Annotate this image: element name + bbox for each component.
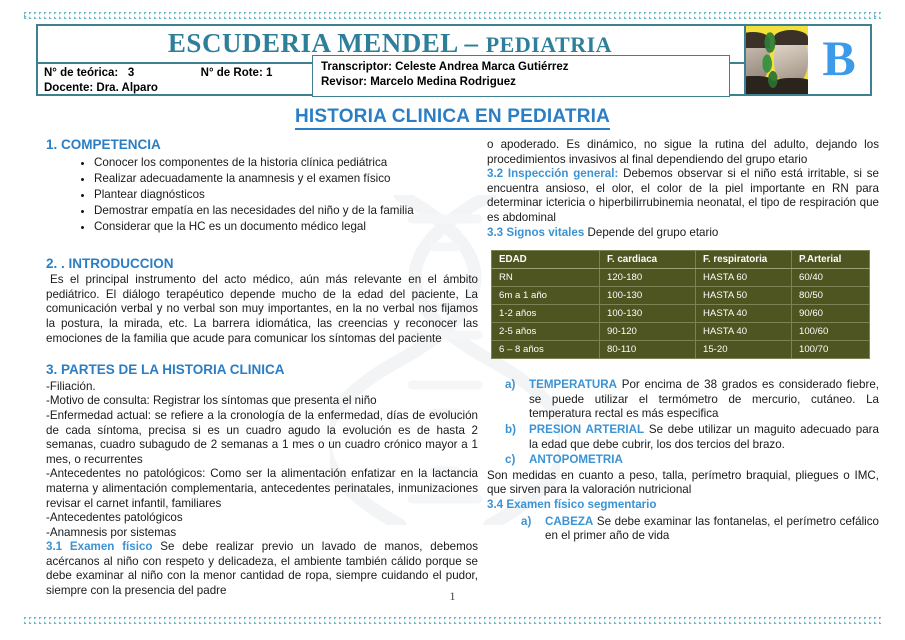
cell-parterial: 90/60 xyxy=(792,305,870,323)
partes-antecedentes-patologicos: -Antecedentes patológicos xyxy=(46,511,478,526)
document-header: ESCUDERIA MENDEL – PEDIATRIA N° de teóri… xyxy=(36,24,872,96)
list-item: Plantear diagnósticos xyxy=(94,187,478,203)
list-item: Conocer los componentes de la historia c… xyxy=(94,155,478,171)
partes-filiacion: -Filiación. xyxy=(46,380,478,395)
left-column: 1. COMPETENCIA Conocer los componentes d… xyxy=(46,138,478,599)
page-title: HISTORIA CLINICA EN PEDIATRIA xyxy=(0,106,905,128)
column-header-fcardiaca: F. cardiaca xyxy=(600,251,696,269)
signos-vitales-text: Depende del grupo etario xyxy=(584,226,718,239)
medidas-list: TEMPERATURA Por encima de 38 grados es c… xyxy=(487,378,879,468)
cabeza-label: CABEZA xyxy=(545,515,593,528)
signos-vitales-label: 3.3 Signos vitales xyxy=(487,226,584,239)
cell-parterial: 100/60 xyxy=(792,323,870,341)
border-top xyxy=(24,12,881,19)
cell-frespiratoria: 15-20 xyxy=(696,341,792,359)
cell-frespiratoria: HASTA 40 xyxy=(696,323,792,341)
cell-edad: 6 – 8 años xyxy=(492,341,600,359)
banner-main-text: ESCUDERIA MENDEL xyxy=(168,28,457,58)
table-row: RN 120-180 HASTA 60 60/40 xyxy=(492,269,870,287)
partes-anamnesis: -Anamnesis por sistemas xyxy=(46,526,478,541)
transcriptor-text: Transcriptor: Celeste Andrea Marca Gutié… xyxy=(321,60,729,75)
metadata-left: N° de teórica: 3 N° de Rote: 1 Docente: … xyxy=(44,66,272,95)
teorica-label: N° de teórica: xyxy=(44,67,118,79)
cell-fcardiaca: 80-110 xyxy=(600,341,696,359)
cell-edad: 1-2 años xyxy=(492,305,600,323)
temperatura-label: TEMPERATURA xyxy=(529,378,617,391)
introduccion-body: Es el principal instrumento del acto méd… xyxy=(46,273,478,346)
inspeccion-paragraph: 3.2 Inspección general: Debemos observar… xyxy=(487,167,879,225)
table-header-row: EDAD F. cardiaca F. respiratoria P.Arter… xyxy=(492,251,870,269)
list-item: Realizar adecuadamente la anamnesis y el… xyxy=(94,171,478,187)
cell-frespiratoria: HASTA 40 xyxy=(696,305,792,323)
section-heading-partes: 3. PARTES DE LA HISTORIA CLINICA xyxy=(46,363,478,378)
inspeccion-label: 3.2 Inspección general: xyxy=(487,167,618,180)
border-left xyxy=(24,12,31,624)
cell-fcardiaca: 100-130 xyxy=(600,305,696,323)
partes-antecedentes-no-patologicos: -Antecedentes no patológicos: Como ser l… xyxy=(46,467,478,511)
cell-frespiratoria: HASTA 60 xyxy=(696,269,792,287)
competencia-list: Conocer los componentes de la historia c… xyxy=(46,155,478,235)
cell-edad: 2-5 años xyxy=(492,323,600,341)
partes-motivo: -Motivo de consulta: Registrar los sínto… xyxy=(46,394,478,409)
page-title-text: HISTORIA CLINICA EN PEDIATRIA xyxy=(295,106,610,130)
antropometria-body: Son medidas en cuanto a peso, talla, per… xyxy=(487,469,879,498)
cell-fcardiaca: 90-120 xyxy=(600,323,696,341)
page-number: 1 xyxy=(0,589,905,604)
column-header-edad: EDAD xyxy=(492,251,600,269)
docente-text: Docente: Dra. Alparo xyxy=(44,82,158,94)
segmentario-label: 3.4 Examen físico segmentario xyxy=(487,498,656,511)
right-column: o apoderado. Es dinámico, no sigue la ru… xyxy=(487,138,879,545)
column-header-frespiratoria: F. respiratoria xyxy=(696,251,792,269)
table-row: 2-5 años 90-120 HASTA 40 100/60 xyxy=(492,323,870,341)
cell-parterial: 60/40 xyxy=(792,269,870,287)
cell-parterial: 80/50 xyxy=(792,287,870,305)
cell-parterial: 100/70 xyxy=(792,341,870,359)
cell-edad: 6m a 1 año xyxy=(492,287,600,305)
table-row: 6m a 1 año 100-130 HASTA 50 80/50 xyxy=(492,287,870,305)
continuation-paragraph: o apoderado. Es dinámico, no sigue la ru… xyxy=(487,138,879,167)
signos-vitales-paragraph: 3.3 Signos vitales Depende del grupo eta… xyxy=(487,226,879,241)
list-item-cabeza: CABEZA Se debe examinar las fontanelas, … xyxy=(545,515,879,544)
vital-signs-table: EDAD F. cardiaca F. respiratoria P.Arter… xyxy=(491,250,870,359)
partes-enfermedad: -Enfermedad actual: se refiere a la cron… xyxy=(46,409,478,467)
teorica-value: 3 xyxy=(128,67,134,79)
cell-frespiratoria: HASTA 50 xyxy=(696,287,792,305)
school-logo: B xyxy=(744,24,872,96)
rote-label: N° de Rote: xyxy=(201,67,263,79)
cabeza-text: Se debe examinar las fontanelas, el perí… xyxy=(545,515,879,543)
cell-fcardiaca: 100-130 xyxy=(600,287,696,305)
examen-fisico-label: 3.1 Examen físico xyxy=(46,540,152,553)
presion-arterial-label: PRESION ARTERIAL xyxy=(529,423,644,436)
list-item: Demostrar empatía en las necesidades del… xyxy=(94,203,478,219)
table-row: 1-2 años 100-130 HASTA 40 90/60 xyxy=(492,305,870,323)
border-bottom xyxy=(24,617,881,624)
list-item-presion-arterial: PRESION ARTERIAL Se debe utilizar un mag… xyxy=(529,423,879,452)
antropometria-label: ANTOPOMETRIA xyxy=(529,453,623,466)
list-item: Considerar que la HC es un documento méd… xyxy=(94,219,478,235)
section-heading-competencia: 1. COMPETENCIA xyxy=(46,138,478,153)
section-heading-introduccion: 2. . INTRODUCCION xyxy=(46,257,478,272)
list-item-temperatura: TEMPERATURA Por encima de 38 grados es c… xyxy=(529,378,879,422)
logo-letter-b: B xyxy=(808,26,870,94)
cell-edad: RN xyxy=(492,269,600,287)
revisor-text: Revisor: Marcelo Medina Rodriguez xyxy=(321,75,729,90)
rote-value: 1 xyxy=(266,67,272,79)
segmentario-list: CABEZA Se debe examinar las fontanelas, … xyxy=(487,515,879,544)
credits-box: Transcriptor: Celeste Andrea Marca Gutié… xyxy=(312,55,730,97)
table-row: 6 – 8 años 80-110 15-20 100/70 xyxy=(492,341,870,359)
banner-sub-text: PEDIATRIA xyxy=(486,32,612,57)
segmentario-heading: 3.4 Examen físico segmentario xyxy=(487,498,879,513)
list-item-antropometria: ANTOPOMETRIA xyxy=(529,453,879,468)
document-page: ESCUDERIA MENDEL – PEDIATRIA N° de teóri… xyxy=(0,0,905,640)
column-header-parterial: P.Arterial xyxy=(792,251,870,269)
banner-dash: – xyxy=(464,28,478,58)
cell-fcardiaca: 120-180 xyxy=(600,269,696,287)
mendel-portrait-icon xyxy=(746,26,808,94)
